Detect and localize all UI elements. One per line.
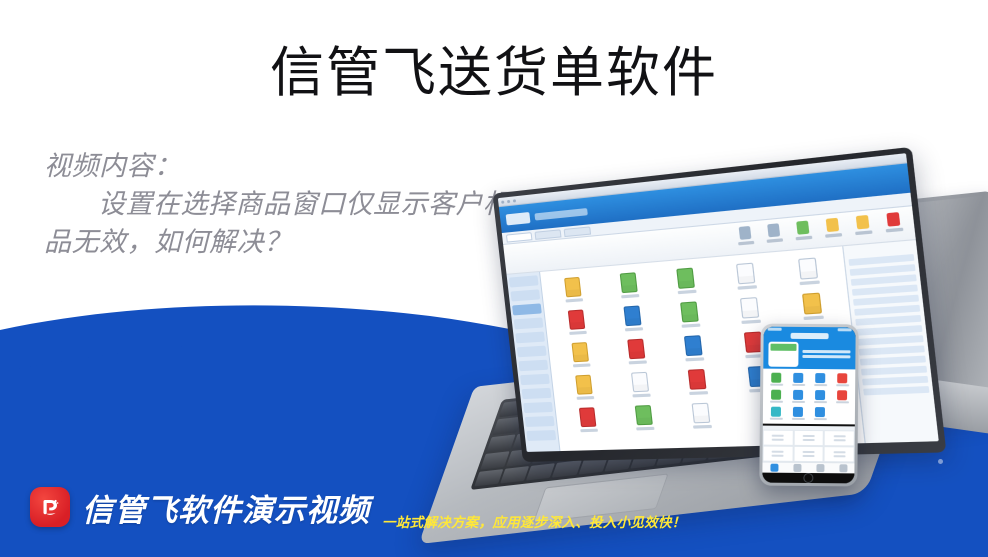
app-ribbon-title xyxy=(534,208,587,221)
phone-app-icon[interactable] xyxy=(788,373,808,386)
module-icon[interactable] xyxy=(554,341,607,368)
phone-app-icon[interactable] xyxy=(766,372,786,385)
toolbar-button[interactable] xyxy=(852,214,874,240)
brand-name: 信管飞软件演示视频 xyxy=(82,485,370,530)
right-panel-row[interactable] xyxy=(860,356,926,366)
hero-text-lines xyxy=(802,350,850,358)
stats-cell xyxy=(824,430,855,446)
phone-app-icon[interactable] xyxy=(766,389,786,402)
phone-app-icon[interactable] xyxy=(832,390,852,403)
right-panel-row[interactable] xyxy=(851,274,917,286)
right-panel-row[interactable] xyxy=(854,305,920,316)
phone-icon-grid[interactable] xyxy=(763,368,855,424)
module-icon[interactable] xyxy=(613,371,668,398)
window-dot-icon xyxy=(513,199,516,202)
app-logo-icon xyxy=(506,212,531,225)
bottom-banner: 信管飞软件演示视频 一站式解决方案，应用逐步深入、投入小见效快！ xyxy=(0,457,988,557)
module-icon[interactable] xyxy=(547,275,600,303)
sidebar-item[interactable] xyxy=(518,360,548,372)
video-content-label: 视频内容： xyxy=(44,148,584,186)
stats-cell xyxy=(763,430,794,446)
laptop-screen xyxy=(492,147,946,462)
brand-tagline: 一站式解决方案，应用逐步深入、投入小见效快！ xyxy=(382,511,686,557)
right-panel-row[interactable] xyxy=(855,315,921,326)
phone-app-icon[interactable] xyxy=(810,390,830,403)
sidebar-item[interactable] xyxy=(525,416,555,427)
toolbar-button[interactable] xyxy=(764,222,785,248)
stats-cell xyxy=(793,430,824,446)
toolbar-button[interactable] xyxy=(822,217,844,243)
module-icon[interactable] xyxy=(617,404,672,431)
right-panel-row[interactable] xyxy=(858,335,924,345)
toolbar-button[interactable] xyxy=(735,225,756,250)
phone-app-icon[interactable] xyxy=(788,390,808,403)
right-panel-row[interactable] xyxy=(852,284,918,295)
sidebar-item[interactable] xyxy=(515,332,545,344)
module-icon[interactable] xyxy=(605,304,660,332)
module-icon[interactable] xyxy=(721,296,780,326)
phone-hero-card xyxy=(763,339,855,369)
app-body xyxy=(507,240,939,452)
module-icon[interactable] xyxy=(670,368,727,396)
phone-app-icon[interactable] xyxy=(810,373,830,386)
module-icon[interactable] xyxy=(609,338,664,366)
toolbar-button[interactable] xyxy=(883,211,906,237)
module-icon[interactable] xyxy=(558,374,611,401)
module-icon[interactable] xyxy=(658,266,715,296)
laptop-display xyxy=(498,153,939,452)
sidebar-item[interactable] xyxy=(510,289,540,301)
phone-app-icon[interactable] xyxy=(832,373,852,386)
laptop-bezel xyxy=(492,147,946,462)
module-icon[interactable] xyxy=(662,300,719,329)
app-tab[interactable] xyxy=(506,232,532,242)
module-icon[interactable] xyxy=(666,334,723,362)
module-icon[interactable] xyxy=(778,256,839,287)
app-tab[interactable] xyxy=(564,226,591,237)
right-panel-row[interactable] xyxy=(856,325,922,336)
module-icon[interactable] xyxy=(673,402,730,429)
sidebar-item[interactable] xyxy=(523,402,553,413)
hero-thumbnail xyxy=(768,342,798,367)
page-title: 信管飞送货单软件 xyxy=(0,38,988,108)
sidebar-item[interactable] xyxy=(526,430,556,441)
module-icon[interactable] xyxy=(602,271,657,300)
phone-app-icon[interactable] xyxy=(766,406,786,419)
window-dot-icon xyxy=(507,199,510,202)
app-tab[interactable] xyxy=(534,229,561,240)
right-panel-row[interactable] xyxy=(859,345,925,355)
xinguanfei-bird-logo-icon xyxy=(30,487,70,527)
right-panel-row[interactable] xyxy=(853,295,919,306)
toolbar-button[interactable] xyxy=(793,220,815,246)
right-panel-row[interactable] xyxy=(861,366,927,376)
sidebar-item[interactable] xyxy=(512,303,542,315)
module-icon[interactable] xyxy=(562,407,615,433)
module-icon[interactable] xyxy=(551,308,604,336)
sidebar-item[interactable] xyxy=(520,374,550,385)
right-panel-row[interactable] xyxy=(862,376,928,386)
phone-app-icon[interactable] xyxy=(810,407,830,420)
slide-canvas: 信管飞送货单软件 视频内容： 设置在选择商品窗口仅显示客户相关商品无效，如何解决… xyxy=(0,0,988,557)
phone-app-icon[interactable] xyxy=(788,407,808,420)
sidebar-item[interactable] xyxy=(509,275,539,287)
sidebar-item[interactable] xyxy=(522,388,552,399)
device-mockup-group xyxy=(425,190,988,490)
window-dot-icon xyxy=(501,200,504,203)
module-icon[interactable] xyxy=(717,261,776,291)
decorative-dot xyxy=(938,459,943,464)
sidebar-item[interactable] xyxy=(517,346,547,358)
module-icon[interactable] xyxy=(782,291,843,321)
sidebar-item[interactable] xyxy=(514,317,544,329)
right-panel-row[interactable] xyxy=(863,386,929,395)
